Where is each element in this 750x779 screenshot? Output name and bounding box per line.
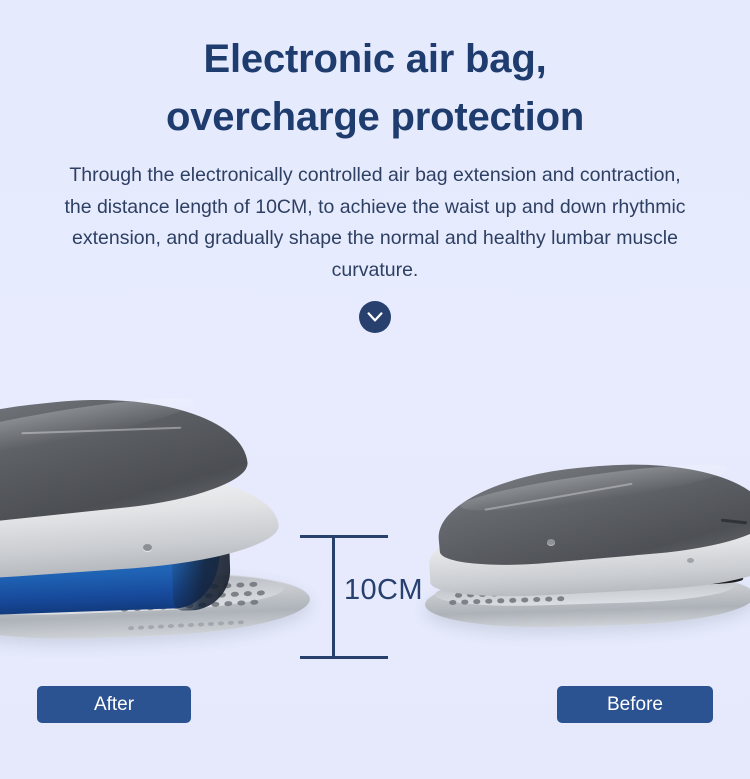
device-screw-dot <box>547 539 555 545</box>
description-line-1: Through the electronically controlled ai… <box>24 160 726 192</box>
measurement-vertical-line <box>332 536 335 658</box>
measurement-label: 10CM <box>344 574 423 607</box>
description-line-2: the distance length of 10CM, to achieve … <box>24 192 726 224</box>
measurement-cap-bottom <box>300 656 388 659</box>
product-image-after-inflated <box>0 390 340 670</box>
product-feature-page: Electronic air bag, overcharge protectio… <box>0 0 750 779</box>
page-description: Through the electronically controlled ai… <box>0 160 750 286</box>
measurement-annotation: 10CM <box>300 533 430 661</box>
device-screw-dot <box>687 558 694 563</box>
top-shell-highlight <box>458 456 729 519</box>
measurement-cap-top <box>300 535 388 538</box>
before-button[interactable]: Before <box>557 686 713 723</box>
product-image-before-deflated <box>425 462 750 662</box>
page-title: Electronic air bag, overcharge protectio… <box>0 30 750 146</box>
device-screw-dot <box>143 544 152 551</box>
page-title-line-2: overcharge protection <box>0 88 750 146</box>
description-line-3: extension, and gradually shape the norma… <box>24 223 726 255</box>
page-title-line-1: Electronic air bag, <box>0 30 750 88</box>
chevron-down-icon[interactable] <box>359 301 391 333</box>
description-line-4: curvature. <box>24 255 726 287</box>
after-button[interactable]: After <box>37 686 191 723</box>
